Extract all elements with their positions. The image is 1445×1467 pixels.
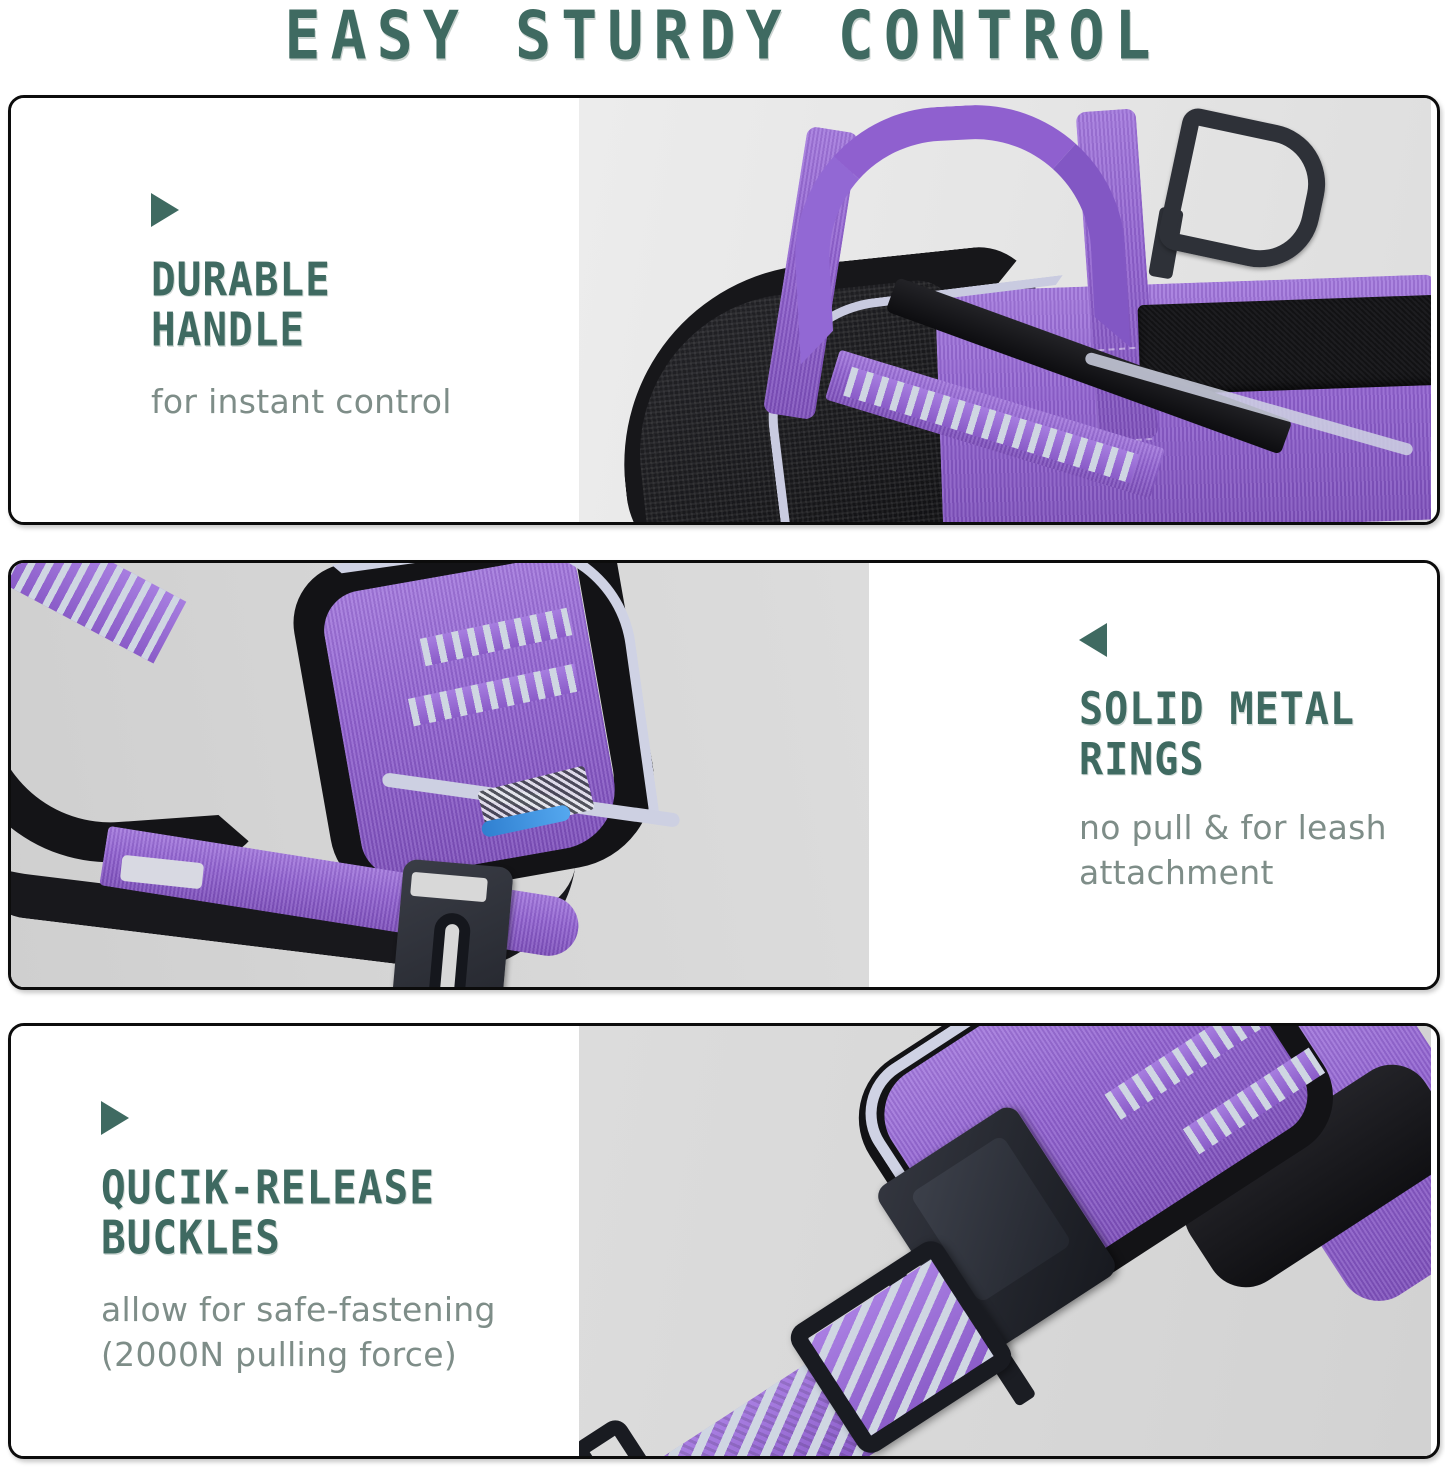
panel-1-text-area: DURABLE HANDLE for instant control xyxy=(11,98,579,522)
panel-1-text-block: DURABLE HANDLE for instant control xyxy=(151,193,452,424)
page-title-bar: EASY STURDY CONTROL xyxy=(0,0,1445,72)
panel-3-text-block: QUCIK-RELEASE BUCKLES allow for safe-fas… xyxy=(101,1101,496,1377)
panel-2-photo xyxy=(11,563,869,987)
triangle-right-icon xyxy=(151,193,179,227)
harness-handle-illustration xyxy=(579,98,1431,522)
panel-1-headline: DURABLE HANDLE xyxy=(151,255,452,356)
harness-metal-ring-illustration xyxy=(11,563,869,987)
panel-2-headline: SOLID METAL RINGS xyxy=(1079,685,1387,786)
panel-2-text-block: SOLID METAL RINGS no pull & for leash at… xyxy=(1079,623,1387,895)
panel-3-text-area: QUCIK-RELEASE BUCKLES allow for safe-fas… xyxy=(11,1026,579,1456)
feature-panel-solid-metal-rings: SOLID METAL RINGS no pull & for leash at… xyxy=(8,560,1440,990)
panel-2-text-area: SOLID METAL RINGS no pull & for leash at… xyxy=(869,563,1431,987)
metal-d-ring xyxy=(1156,106,1337,279)
panel-3-photo xyxy=(579,1026,1431,1456)
quick-release-buckle-illustration xyxy=(579,1026,1431,1456)
feature-panel-durable-handle: DURABLE HANDLE for instant control xyxy=(8,95,1440,525)
page-title: EASY STURDY CONTROL xyxy=(284,0,1160,75)
panel-1-subtext: for instant control xyxy=(151,379,452,424)
feature-panel-quick-release-buckles: QUCIK-RELEASE BUCKLES allow for safe-fas… xyxy=(8,1023,1440,1459)
panel-3-subtext: allow for safe-fastening (2000N pulling … xyxy=(101,1287,496,1377)
triangle-right-icon xyxy=(101,1101,129,1135)
triangle-left-icon xyxy=(1079,623,1107,657)
panel-3-headline: QUCIK-RELEASE BUCKLES xyxy=(101,1163,496,1264)
panel-1-photo xyxy=(579,98,1431,522)
panel-2-subtext: no pull & for leash attachment xyxy=(1079,805,1387,895)
